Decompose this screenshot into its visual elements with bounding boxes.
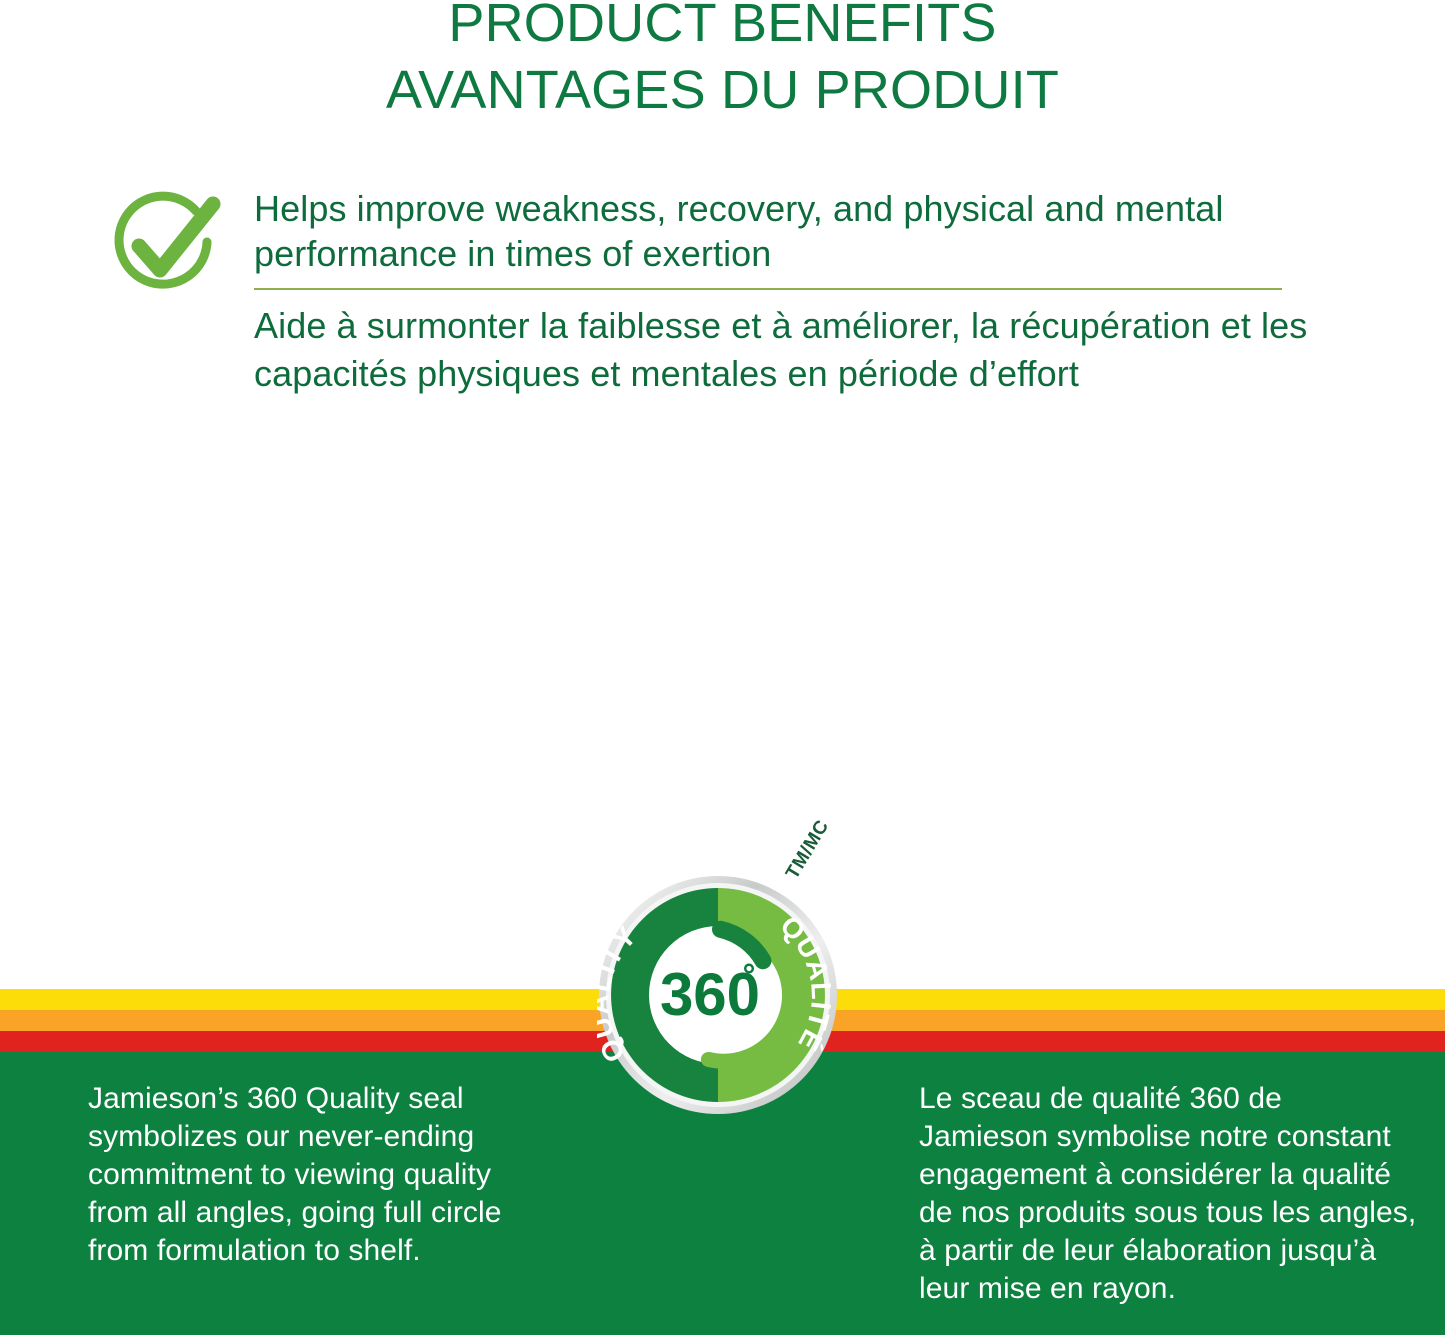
benefit-text-group: Helps improve weakness, recovery, and ph…	[232, 186, 1312, 398]
benefit-text-fr: Aide à surmonter la faiblesse et à améli…	[254, 302, 1312, 398]
page-title-en: PRODUCT BENEFITS	[0, 0, 1445, 57]
page-title-fr: AVANTAGES DU PRODUIT	[0, 57, 1445, 124]
benefit-divider	[254, 288, 1282, 290]
page-title: PRODUCT BENEFITS AVANTAGES DU PRODUIT	[0, 0, 1445, 124]
benefit-text-en: Helps improve weakness, recovery, and ph…	[254, 186, 1312, 288]
footer-text-en: Jamieson’s 360 Quality seal symbolizes o…	[88, 1080, 558, 1270]
footer-text-fr: Le sceau de qualité 360 de Jamieson symb…	[919, 1080, 1419, 1308]
check-circle-icon	[112, 186, 232, 303]
product-benefits-panel: PRODUCT BENEFITS AVANTAGES DU PRODUIT He…	[0, 0, 1445, 1335]
benefit-item: Helps improve weakness, recovery, and ph…	[112, 186, 1312, 398]
svg-text:°: °	[743, 957, 756, 993]
quality-360-seal: 360 ° QUALITY QUALITÉ	[597, 874, 839, 1116]
